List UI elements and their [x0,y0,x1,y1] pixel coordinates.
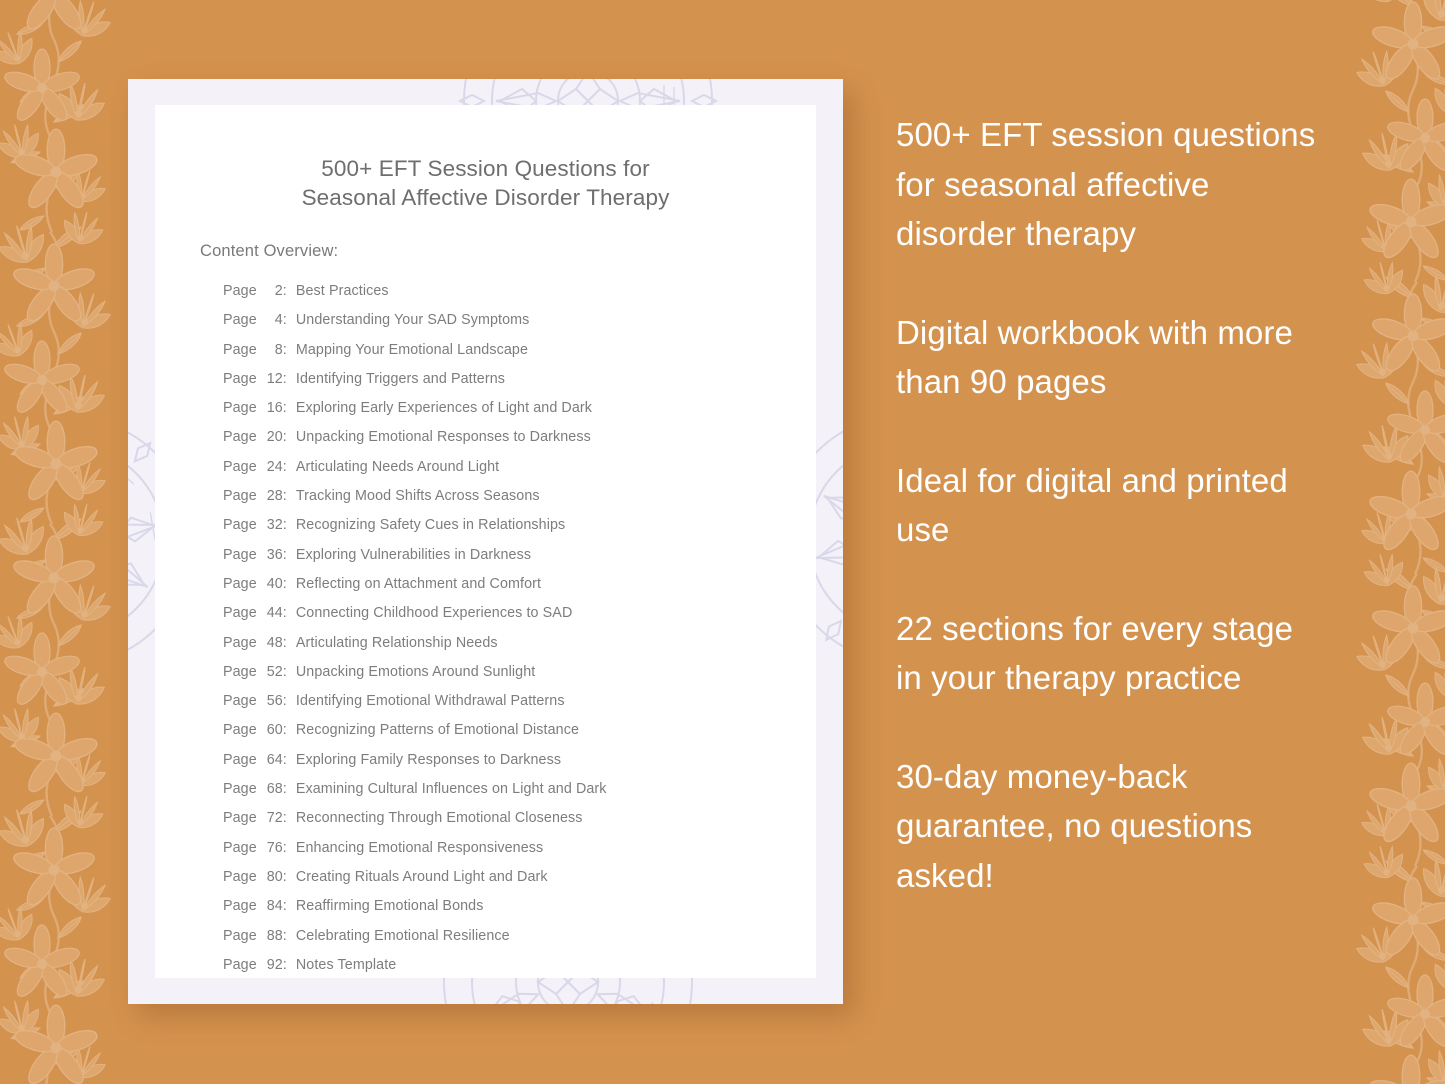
toc-entry: Page 20:Unpacking Emotional Responses to… [223,429,816,458]
toc-entry-title: Exploring Family Responses to Darkness [296,752,561,768]
toc-page-word: Page [223,576,257,592]
toc-page-number: 76: [261,840,287,856]
toc-entry-title: Understanding Your SAD Symptoms [296,312,530,328]
toc-page-number: 92: [261,957,287,973]
toc-entry: Page 12:Identifying Triggers and Pattern… [223,371,816,400]
toc-page-number: 20: [261,429,287,445]
toc-page-word: Page [223,312,257,328]
toc-entry-title: Creating Rituals Around Light and Dark [296,869,548,885]
toc-entry: Page 84:Reaffirming Emotional Bonds [223,898,816,927]
toc-entry: Page 80:Creating Rituals Around Light an… [223,869,816,898]
toc-page-number: 36: [261,547,287,563]
toc-page-word: Page [223,459,257,475]
toc-entry: Page 76:Enhancing Emotional Responsivene… [223,840,816,869]
floral-vine-icon-left [0,0,142,1084]
toc-page-word: Page [223,722,257,738]
toc-entry-title: Mapping Your Emotional Landscape [296,342,528,358]
toc-entry: Page 28:Tracking Mood Shifts Across Seas… [223,488,816,517]
toc-page-number: 24: [261,459,287,475]
toc-entry: Page 56:Identifying Emotional Withdrawal… [223,693,816,722]
toc-page-number: 8: [261,342,287,358]
toc-entry: Page 8:Mapping Your Emotional Landscape [223,342,816,371]
content-overview-label: Content Overview: [155,212,816,261]
toc-entry-title: Enhancing Emotional Responsiveness [296,840,543,856]
toc-entry: Page 52:Unpacking Emotions Around Sunlig… [223,664,816,693]
toc-page-word: Page [223,517,257,533]
toc-page-word: Page [223,547,257,563]
toc-page-word: Page [223,283,257,299]
page-title-line-2: Seasonal Affective Disorder Therapy [155,183,816,212]
toc-entry-title: Examining Cultural Influences on Light a… [296,781,607,797]
toc-page-number: 72: [261,810,287,826]
marketing-bullet: Ideal for digital and printed use [896,456,1328,555]
toc-entry: Page 48:Articulating Relationship Needs [223,635,816,664]
marketing-bullet: Digital workbook with more than 90 pages [896,308,1328,407]
toc-page-number: 48: [261,635,287,651]
toc-page-word: Page [223,342,257,358]
toc-entry: Page 44:Connecting Childhood Experiences… [223,605,816,634]
toc-entry: Page 60:Recognizing Patterns of Emotiona… [223,722,816,751]
toc-entry-title: Celebrating Emotional Resilience [296,928,510,944]
toc-entry-title: Reaffirming Emotional Bonds [296,898,484,914]
toc-page-number: 2: [261,283,287,299]
toc-entry-title: Reconnecting Through Emotional Closeness [296,810,583,826]
toc-entry: Page 36:Exploring Vulnerabilities in Dar… [223,547,816,576]
toc-page-number: 52: [261,664,287,680]
toc-entry-title: Articulating Needs Around Light [296,459,499,475]
toc-page-number: 84: [261,898,287,914]
toc-page-word: Page [223,752,257,768]
toc-entry: Page 72:Reconnecting Through Emotional C… [223,810,816,839]
toc-page-number: 28: [261,488,287,504]
toc-entry-title: Recognizing Patterns of Emotional Distan… [296,722,579,738]
toc-page-word: Page [223,869,257,885]
toc-page-number: 32: [261,517,287,533]
toc-entry-title: Unpacking Emotions Around Sunlight [296,664,535,680]
marketing-bullet: 30-day money-back guarantee, no question… [896,752,1328,901]
toc-page-word: Page [223,898,257,914]
toc-page-word: Page [223,840,257,856]
toc-entry: Page 4:Understanding Your SAD Symptoms [223,312,816,341]
toc-entry-title: Articulating Relationship Needs [296,635,498,651]
toc-page-number: 44: [261,605,287,621]
toc-page-word: Page [223,693,257,709]
toc-entry-title: Identifying Emotional Withdrawal Pattern… [296,693,565,709]
toc-entry: Page 88:Celebrating Emotional Resilience [223,928,816,957]
toc-entry: Page 68:Examining Cultural Influences on… [223,781,816,810]
toc-entry-title: Exploring Vulnerabilities in Darkness [296,547,531,563]
toc-page-number: 60: [261,722,287,738]
toc-page-word: Page [223,488,257,504]
toc-page-word: Page [223,810,257,826]
table-of-contents: Page 2:Best PracticesPage 4:Understandin… [155,261,816,986]
toc-page-word: Page [223,664,257,680]
toc-entry-title: Identifying Triggers and Patterns [296,371,505,387]
toc-page-word: Page [223,429,257,445]
toc-page-number: 40: [261,576,287,592]
toc-entry: Page 2:Best Practices [223,283,816,312]
toc-entry-title: Notes Template [296,957,396,973]
toc-page-word: Page [223,781,257,797]
toc-entry: Page 64:Exploring Family Responses to Da… [223,752,816,781]
toc-entry-title: Connecting Childhood Experiences to SAD [296,605,573,621]
poster-canvas: 500+ EFT Session Questions for Seasonal … [0,0,1445,1084]
toc-entry-title: Tracking Mood Shifts Across Seasons [296,488,540,504]
floral-vine-icon-right [1325,0,1445,1084]
toc-page-word: Page [223,635,257,651]
page-title: 500+ EFT Session Questions for Seasonal … [155,105,816,212]
toc-page-number: 88: [261,928,287,944]
toc-page-word: Page [223,371,257,387]
toc-page-word: Page [223,400,257,416]
toc-entry-title: Unpacking Emotional Responses to Darknes… [296,429,591,445]
toc-page-word: Page [223,957,257,973]
toc-page-number: 56: [261,693,287,709]
toc-page-word: Page [223,605,257,621]
marketing-bullet: 22 sections for every stage in your ther… [896,604,1328,703]
toc-page-number: 4: [261,312,287,328]
toc-entry: Page 16:Exploring Early Experiences of L… [223,400,816,429]
toc-page-number: 16: [261,400,287,416]
toc-page-number: 12: [261,371,287,387]
toc-entry: Page 24:Articulating Needs Around Light [223,459,816,488]
toc-entry: Page 40:Reflecting on Attachment and Com… [223,576,816,605]
page-title-line-1: 500+ EFT Session Questions for [155,154,816,183]
workbook-page-card: 500+ EFT Session Questions for Seasonal … [128,79,843,1004]
toc-entry-title: Exploring Early Experiences of Light and… [296,400,592,416]
toc-entry: Page 92:Notes Template [223,957,816,986]
marketing-bullet: 500+ EFT session questions for seasonal … [896,110,1328,259]
toc-entry-title: Best Practices [296,283,389,299]
toc-page-number: 64: [261,752,287,768]
toc-entry-title: Recognizing Safety Cues in Relationships [296,517,565,533]
workbook-page-content: 500+ EFT Session Questions for Seasonal … [155,105,816,978]
toc-page-number: 80: [261,869,287,885]
toc-entry: Page 32:Recognizing Safety Cues in Relat… [223,517,816,546]
toc-page-word: Page [223,928,257,944]
toc-page-number: 68: [261,781,287,797]
toc-entry-title: Reflecting on Attachment and Comfort [296,576,541,592]
marketing-bullets: 500+ EFT session questions for seasonal … [896,110,1328,900]
